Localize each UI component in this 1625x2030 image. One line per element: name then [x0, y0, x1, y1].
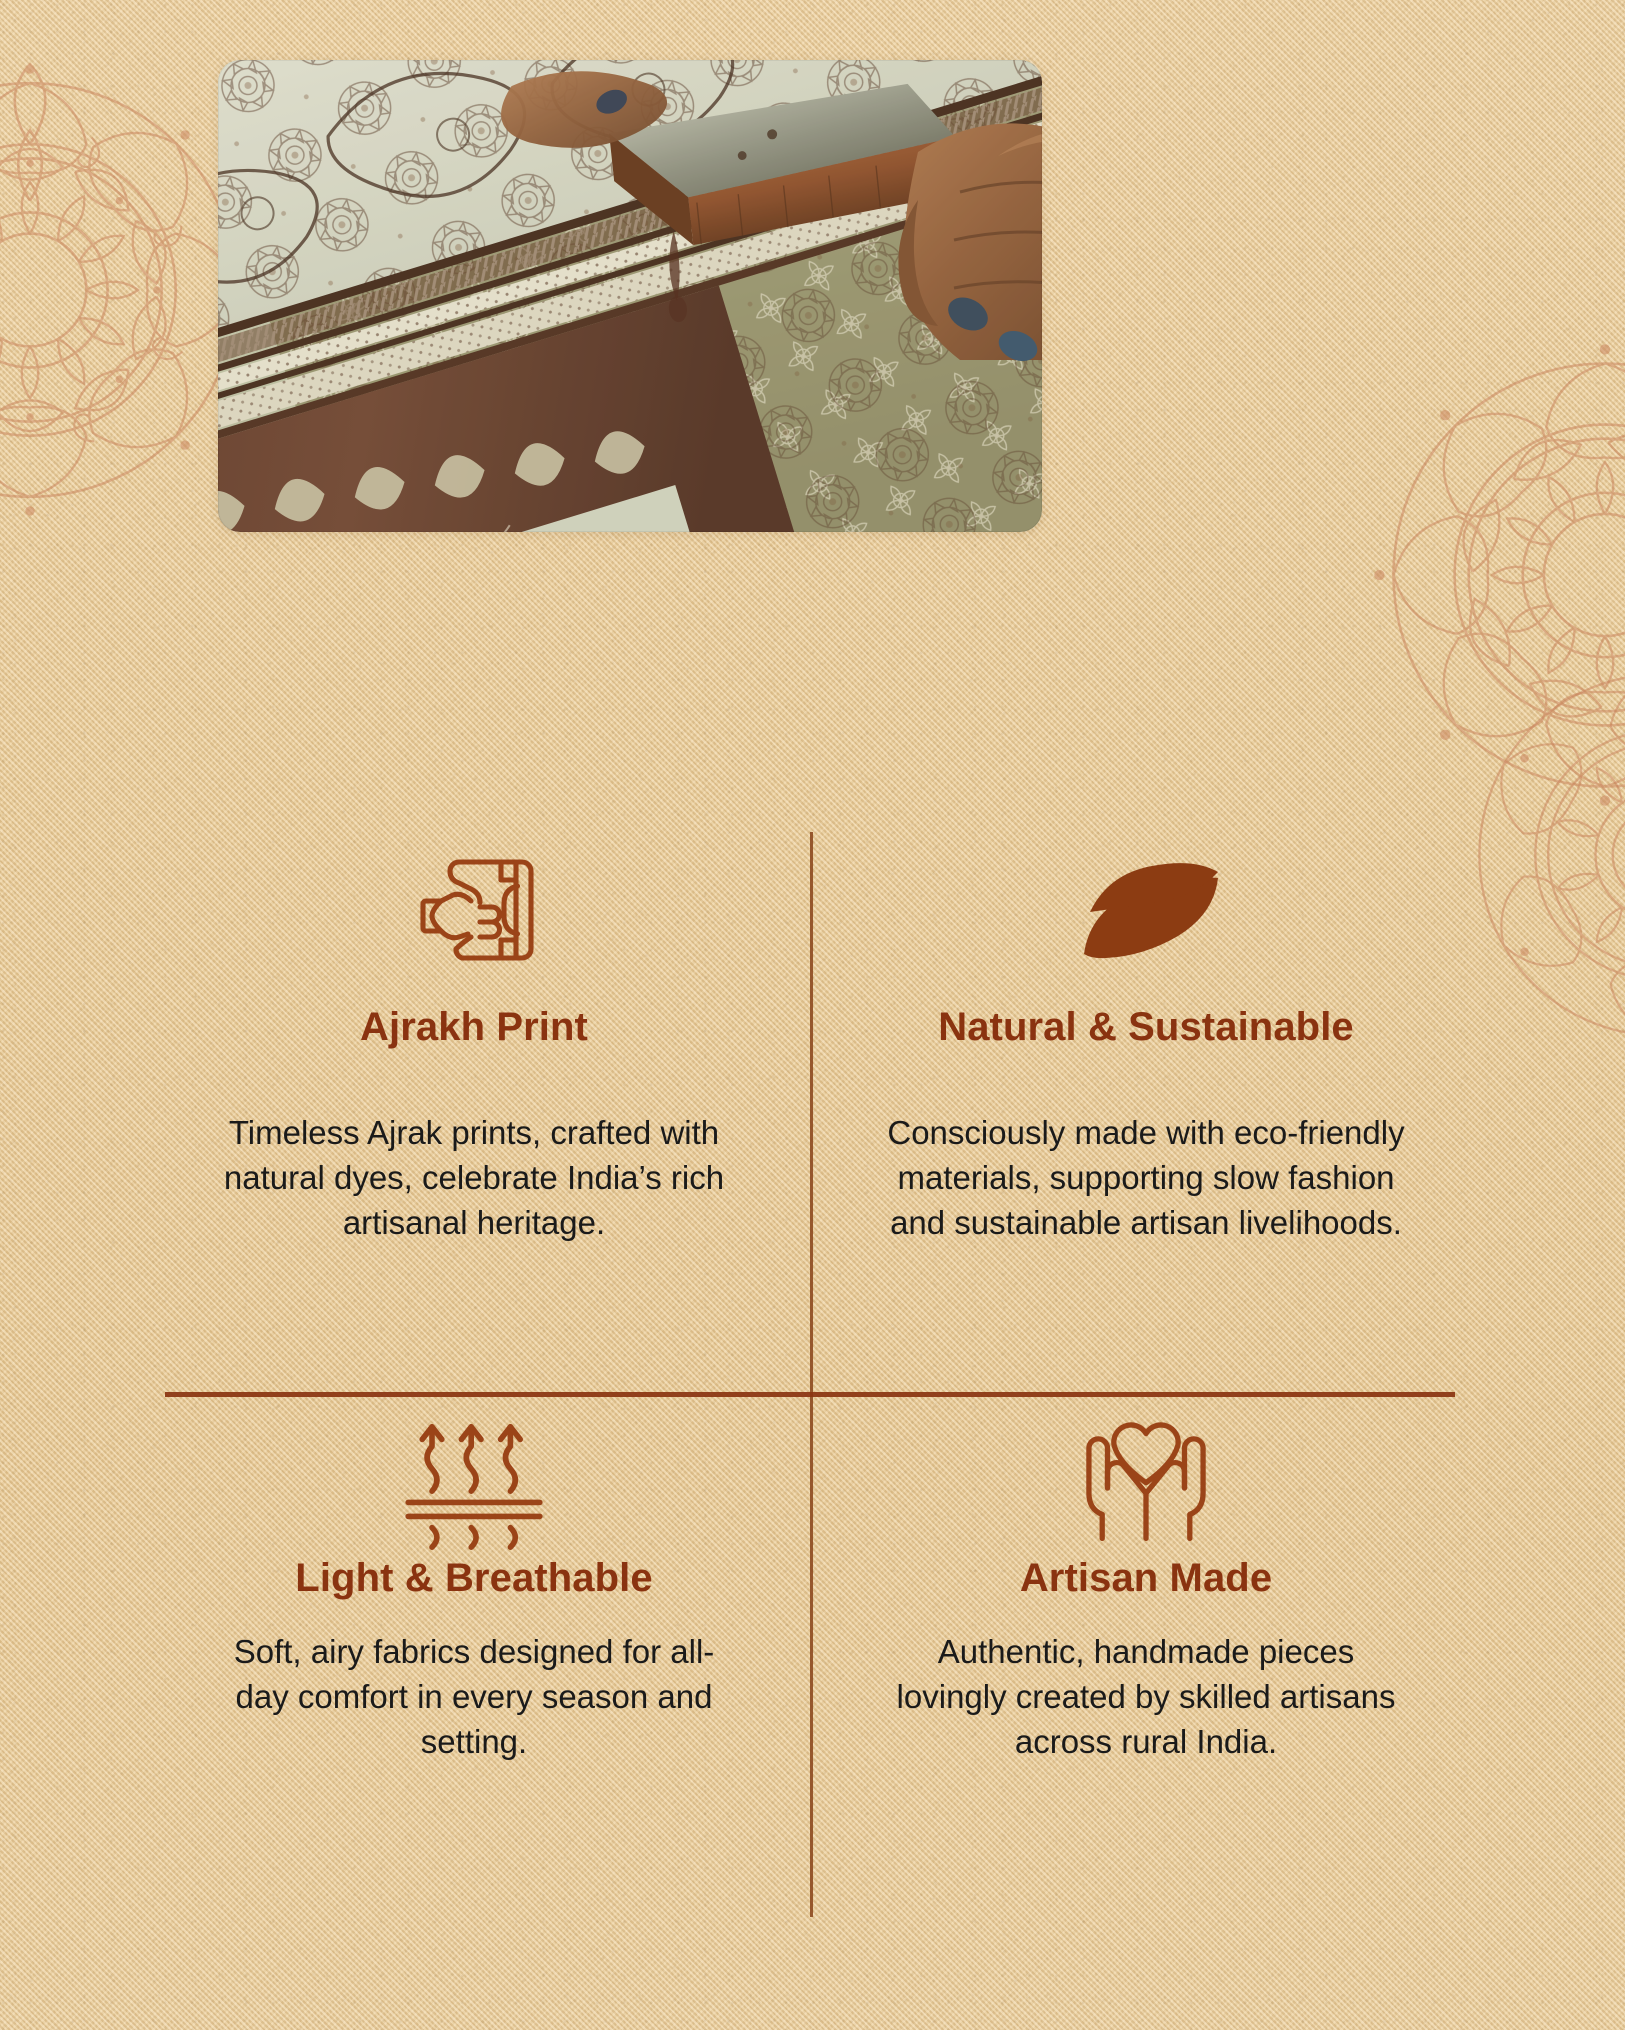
- feature-title: Light & Breathable: [295, 1556, 652, 1600]
- feature-title: Natural & Sustainable: [938, 1005, 1354, 1049]
- feature-card-artisan-made: Artisan Made Authentic, handmade pieces …: [810, 1370, 1460, 1915]
- feature-title: Ajrakh Print: [360, 1005, 588, 1049]
- feature-card-ajrakh-print: Ajrakh Print Timeless Ajrak prints, craf…: [160, 825, 810, 1370]
- feature-description: Consciously made with eco-friendly mater…: [886, 1111, 1406, 1246]
- ajrakh-block-printing-photo: [218, 60, 1042, 532]
- feature-description: Timeless Ajrak prints, crafted with natu…: [214, 1111, 734, 1246]
- breathable-airflow-icon: [396, 1404, 552, 1556]
- hands-heart-icon: [1073, 1404, 1219, 1556]
- feature-card-natural-sustainable: Natural & Sustainable Consciously made w…: [810, 825, 1460, 1370]
- feature-card-light-breathable: Light & Breathable Soft, airy fabrics de…: [160, 1370, 810, 1915]
- feature-grid: Ajrakh Print Timeless Ajrak prints, craf…: [160, 825, 1460, 1915]
- feature-description: Soft, airy fabrics designed for all-day …: [214, 1630, 734, 1765]
- block-print-hand-icon: [399, 825, 549, 995]
- leaf-icon: [1066, 825, 1226, 995]
- feature-description: Authentic, handmade pieces lovingly crea…: [886, 1630, 1406, 1765]
- feature-title: Artisan Made: [1020, 1556, 1272, 1600]
